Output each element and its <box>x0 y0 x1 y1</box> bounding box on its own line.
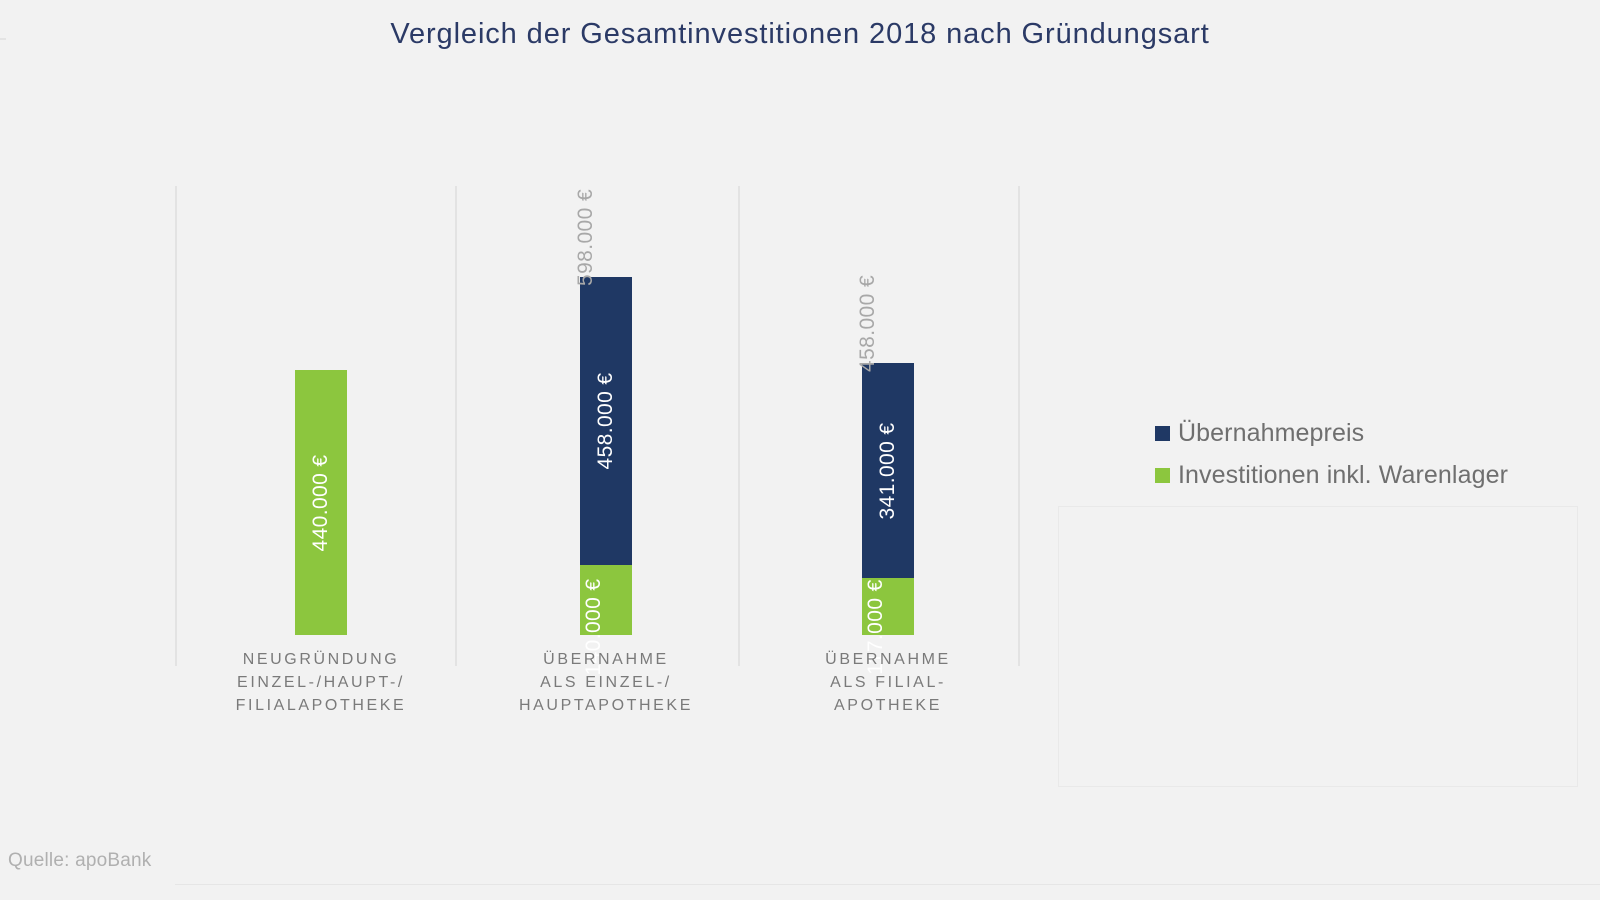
bar-segment-investitionen-2[interactable]: 140.000 € <box>580 565 632 635</box>
category-label-uebernahme-filial: ÜBERNAHME ALS FILIAL- APOTHEKE <box>768 648 1008 717</box>
chart-legend: Übernahmepreis Investitionen inkl. Waren… <box>1155 412 1508 496</box>
bar-column-neugruendung[interactable]: 440.000 € <box>295 370 347 635</box>
bar-segment-uebernahmepreis-2[interactable]: 458.000 € <box>580 277 632 565</box>
bar-value-label-uebernahmepreis-3: 341.000 € <box>876 422 900 519</box>
bar-value-label-uebernahmepreis-2: 458.000 € <box>594 372 618 469</box>
legend-item-uebernahmepreis[interactable]: Übernahmepreis <box>1155 412 1508 454</box>
bar-column-uebernahme-filial[interactable]: 341.000 € 117.000 € <box>862 363 914 635</box>
legend-label-uebernahmepreis: Übernahmepreis <box>1178 419 1364 448</box>
category-divider-1 <box>175 186 177 666</box>
bar-total-label-2: 598.000 € <box>574 189 598 286</box>
bar-column-uebernahme-einzel-haupt[interactable]: 458.000 € 140.000 € <box>580 277 632 635</box>
bar-value-label-investitionen-1: 440.000 € <box>309 454 333 551</box>
legend-item-investitionen[interactable]: Investitionen inkl. Warenlager <box>1155 454 1508 496</box>
source-attribution: Quelle: apoBank <box>8 850 152 872</box>
legend-swatch-icon-uebernahmepreis <box>1155 426 1170 441</box>
legend-label-investitionen: Investitionen inkl. Warenlager <box>1178 461 1508 490</box>
category-divider-2 <box>455 186 457 666</box>
placeholder-frame <box>1058 506 1578 787</box>
footer-divider <box>175 884 1600 885</box>
bar-segment-investitionen-3[interactable]: 117.000 € <box>862 578 914 635</box>
category-label-neugruendung: NEUGRÜNDUNG EINZEL-/HAUPT-/ FILIALAPOTHE… <box>201 648 441 717</box>
category-divider-3 <box>738 186 740 666</box>
bar-segment-investitionen-1[interactable]: 440.000 € <box>295 370 347 635</box>
bar-segment-uebernahmepreis-3[interactable]: 341.000 € <box>862 363 914 578</box>
bar-total-label-3: 458.000 € <box>856 275 880 372</box>
legend-swatch-icon-investitionen <box>1155 468 1170 483</box>
chart-canvas: Vergleich der Gesamtinvestitionen 2018 n… <box>0 0 1600 900</box>
category-divider-4 <box>1018 186 1020 666</box>
category-label-uebernahme-einzel-haupt: ÜBERNAHME ALS EINZEL-/ HAUPTAPOTHEKE <box>486 648 726 717</box>
